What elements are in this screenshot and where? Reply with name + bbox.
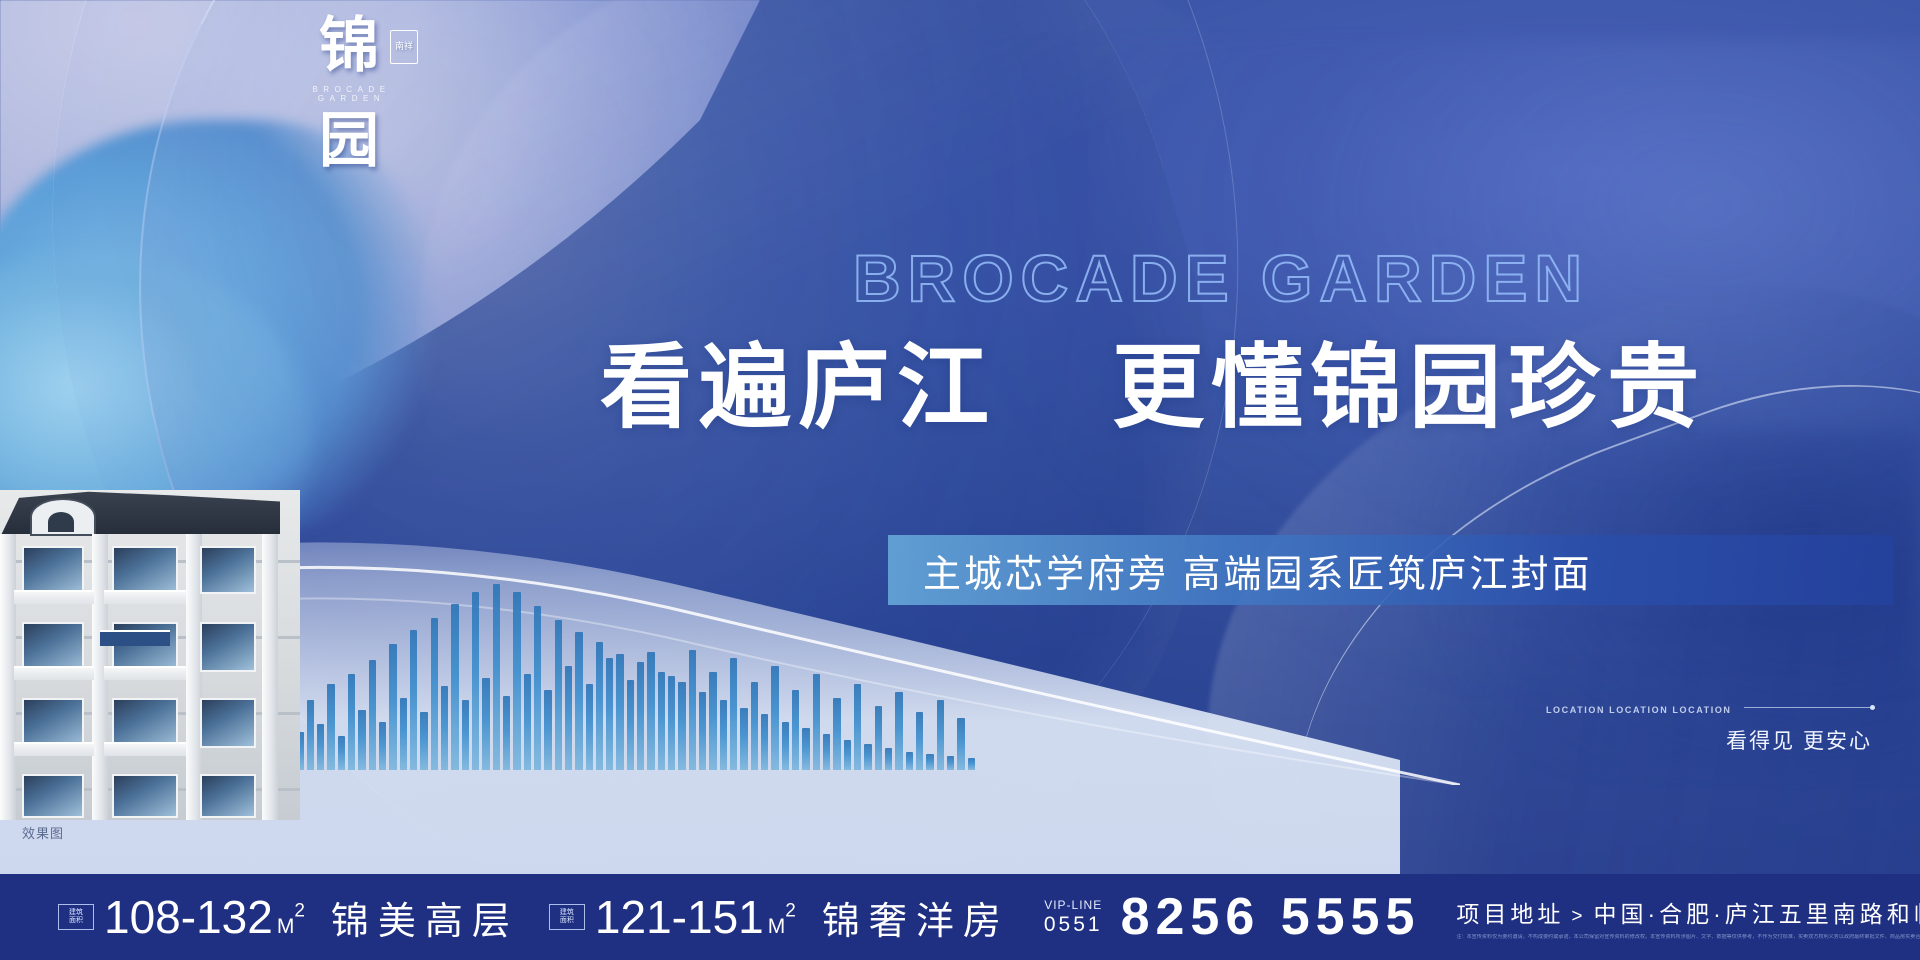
skyline-bar — [596, 642, 603, 770]
area-badge-2-line1: 建筑 — [560, 909, 574, 917]
skyline-bar — [813, 674, 820, 770]
product-2-name: 锦奢洋房 — [822, 890, 1010, 945]
legal-disclaimer: 注：本宣传资料仅为要约邀请，不构成要约或承诺，本公司保留对宣传资料的修改权。本宣… — [1456, 934, 1920, 940]
skyline-bar — [410, 630, 417, 770]
skyline-bar — [338, 736, 345, 770]
brand-logo: 锦 南祥 BROCADE GARDEN 园 — [290, 14, 410, 184]
skyline-bar — [575, 632, 582, 770]
skyline-bar — [906, 752, 913, 770]
skyline-bar — [462, 700, 469, 770]
product-2-area-unit: M — [768, 915, 786, 938]
headline-part-1: 看遍庐江 — [600, 333, 996, 441]
skyline-bar — [616, 654, 623, 770]
hotline-label: VIP-LINE — [1044, 898, 1103, 912]
skyline-bar — [792, 690, 799, 770]
product-1-area-unit-sup: 2 — [294, 901, 305, 922]
product-1-area-value: 108-132 — [104, 891, 273, 943]
area-badge-1-line1: 建筑 — [69, 909, 83, 917]
hotline-label-block: VIP-LINE 0551 — [1044, 898, 1103, 937]
area-badge-1: 建筑 面积 — [58, 904, 94, 930]
footer-bar: 建筑 面积 108-132M2 锦美高层 建筑 面积 121-151M2 锦奢洋… — [0, 874, 1920, 960]
hotline-area-code: 0551 — [1044, 913, 1103, 937]
skyline-bar — [482, 678, 489, 770]
area-badge-2: 建筑 面积 — [549, 904, 585, 930]
product-2-area-unit-sup: 2 — [785, 901, 796, 922]
skyline-bar — [668, 676, 675, 770]
skyline-bar — [658, 672, 665, 770]
chevron-right-icon: > — [1571, 906, 1586, 927]
product-1-area: 108-132M2 — [104, 890, 305, 944]
skyline-bar — [451, 604, 458, 770]
product-2-area-value: 121-151 — [595, 891, 764, 943]
skyline-bar — [524, 674, 531, 770]
skyline-bar — [895, 692, 902, 770]
skyline-bar — [937, 700, 944, 770]
skyline-bar — [647, 652, 654, 770]
subtitle-banner: 主城芯学府旁 高端园系匠筑庐江封面 — [888, 535, 1893, 605]
skyline-bar — [678, 682, 685, 770]
address-line: 项目地址>中国·合肥·庐江五里南路和临湖路交口 — [1456, 895, 1920, 929]
location-rule-line — [1744, 707, 1872, 708]
address-label: 项目地址 — [1456, 901, 1564, 927]
skyline-bar — [689, 650, 696, 770]
skyline-bar — [400, 698, 407, 770]
render-disclaimer-note: 效果图 — [22, 823, 64, 842]
skyline-bar-graphic — [255, 570, 975, 770]
location-english-row: LOCATION LOCATION LOCATION — [1546, 700, 1872, 718]
skyline-bar — [761, 714, 768, 770]
skyline-bar — [555, 620, 562, 770]
brand-english-outline-text: BROCADE GARDEN — [853, 240, 1589, 316]
building-rendering-image — [0, 490, 300, 820]
skyline-bar — [802, 728, 809, 770]
product-1-area-unit: M — [277, 915, 295, 938]
logo-seal-icon: 南祥 — [390, 30, 418, 64]
skyline-bar — [740, 708, 747, 770]
skyline-bar — [420, 712, 427, 770]
skyline-bar — [627, 680, 634, 770]
location-english-text: LOCATION LOCATION LOCATION — [1546, 705, 1732, 715]
skyline-bar — [472, 592, 479, 770]
headline-part-2: 更懂锦园珍贵 — [1112, 333, 1706, 441]
skyline-bar — [327, 684, 334, 770]
skyline-bar — [720, 700, 727, 770]
skyline-bar — [358, 710, 365, 770]
building-awning — [100, 630, 170, 646]
skyline-bar — [503, 696, 510, 770]
skyline-bar — [751, 682, 758, 770]
area-badge-2-line2: 面积 — [560, 917, 574, 925]
skyline-bar — [379, 722, 386, 770]
skyline-bar — [534, 606, 541, 770]
skyline-bar — [317, 724, 324, 770]
product-1-name: 锦美高层 — [331, 890, 519, 945]
location-tagline-block: LOCATION LOCATION LOCATION 看得见 更安心 — [1546, 700, 1872, 755]
area-badge-1-line2: 面积 — [69, 917, 83, 925]
skyline-bar — [885, 748, 892, 770]
skyline-bar — [709, 672, 716, 770]
skyline-bar — [916, 712, 923, 770]
logo-char-bottom: 园 — [290, 109, 410, 173]
skyline-bar — [864, 744, 871, 770]
skyline-bar — [730, 658, 737, 770]
skyline-bar — [606, 658, 613, 770]
skyline-bar — [565, 666, 572, 770]
skyline-bar — [586, 684, 593, 770]
logo-english-name: BROCADE GARDEN — [293, 85, 410, 103]
building-dormer-window — [30, 498, 96, 536]
location-chinese-text: 看得见 更安心 — [1546, 725, 1872, 755]
product-2-area: 121-151M2 — [595, 890, 796, 944]
skyline-bar — [307, 700, 314, 770]
skyline-bar — [844, 740, 851, 770]
skyline-bar — [875, 706, 882, 770]
skyline-bar — [369, 660, 376, 770]
skyline-bar — [823, 734, 830, 770]
advertisement-poster: 锦 南祥 BROCADE GARDEN 园 BROCADE GARDEN 看遍庐… — [0, 0, 1920, 960]
address-value: 中国·合肥·庐江五里南路和临湖路交口 — [1593, 901, 1920, 927]
skyline-bar — [699, 692, 706, 770]
skyline-bar — [957, 718, 964, 770]
skyline-bar — [637, 662, 644, 770]
skyline-bar — [771, 666, 778, 770]
skyline-bar — [389, 644, 396, 770]
skyline-bar — [833, 698, 840, 770]
skyline-bar — [513, 592, 520, 770]
skyline-bar — [854, 684, 861, 770]
skyline-bar — [926, 754, 933, 770]
skyline-bar — [441, 686, 448, 770]
hotline-number[interactable]: 8256 5555 — [1121, 887, 1421, 947]
address-block: 项目地址>中国·合肥·庐江五里南路和临湖路交口 注：本宣传资料仅为要约邀请，不构… — [1456, 895, 1920, 940]
skyline-bar — [968, 758, 975, 770]
skyline-bar — [348, 674, 355, 770]
skyline-bar — [431, 618, 438, 770]
skyline-bar — [947, 756, 954, 770]
page-title: 看遍庐江 更懂锦园珍贵 — [600, 337, 1706, 437]
subtitle-text: 主城芯学府旁 高端园系匠筑庐江封面 — [923, 543, 1593, 598]
skyline-bar — [782, 722, 789, 770]
skyline-bar — [544, 690, 551, 770]
skyline-bar — [493, 584, 500, 770]
